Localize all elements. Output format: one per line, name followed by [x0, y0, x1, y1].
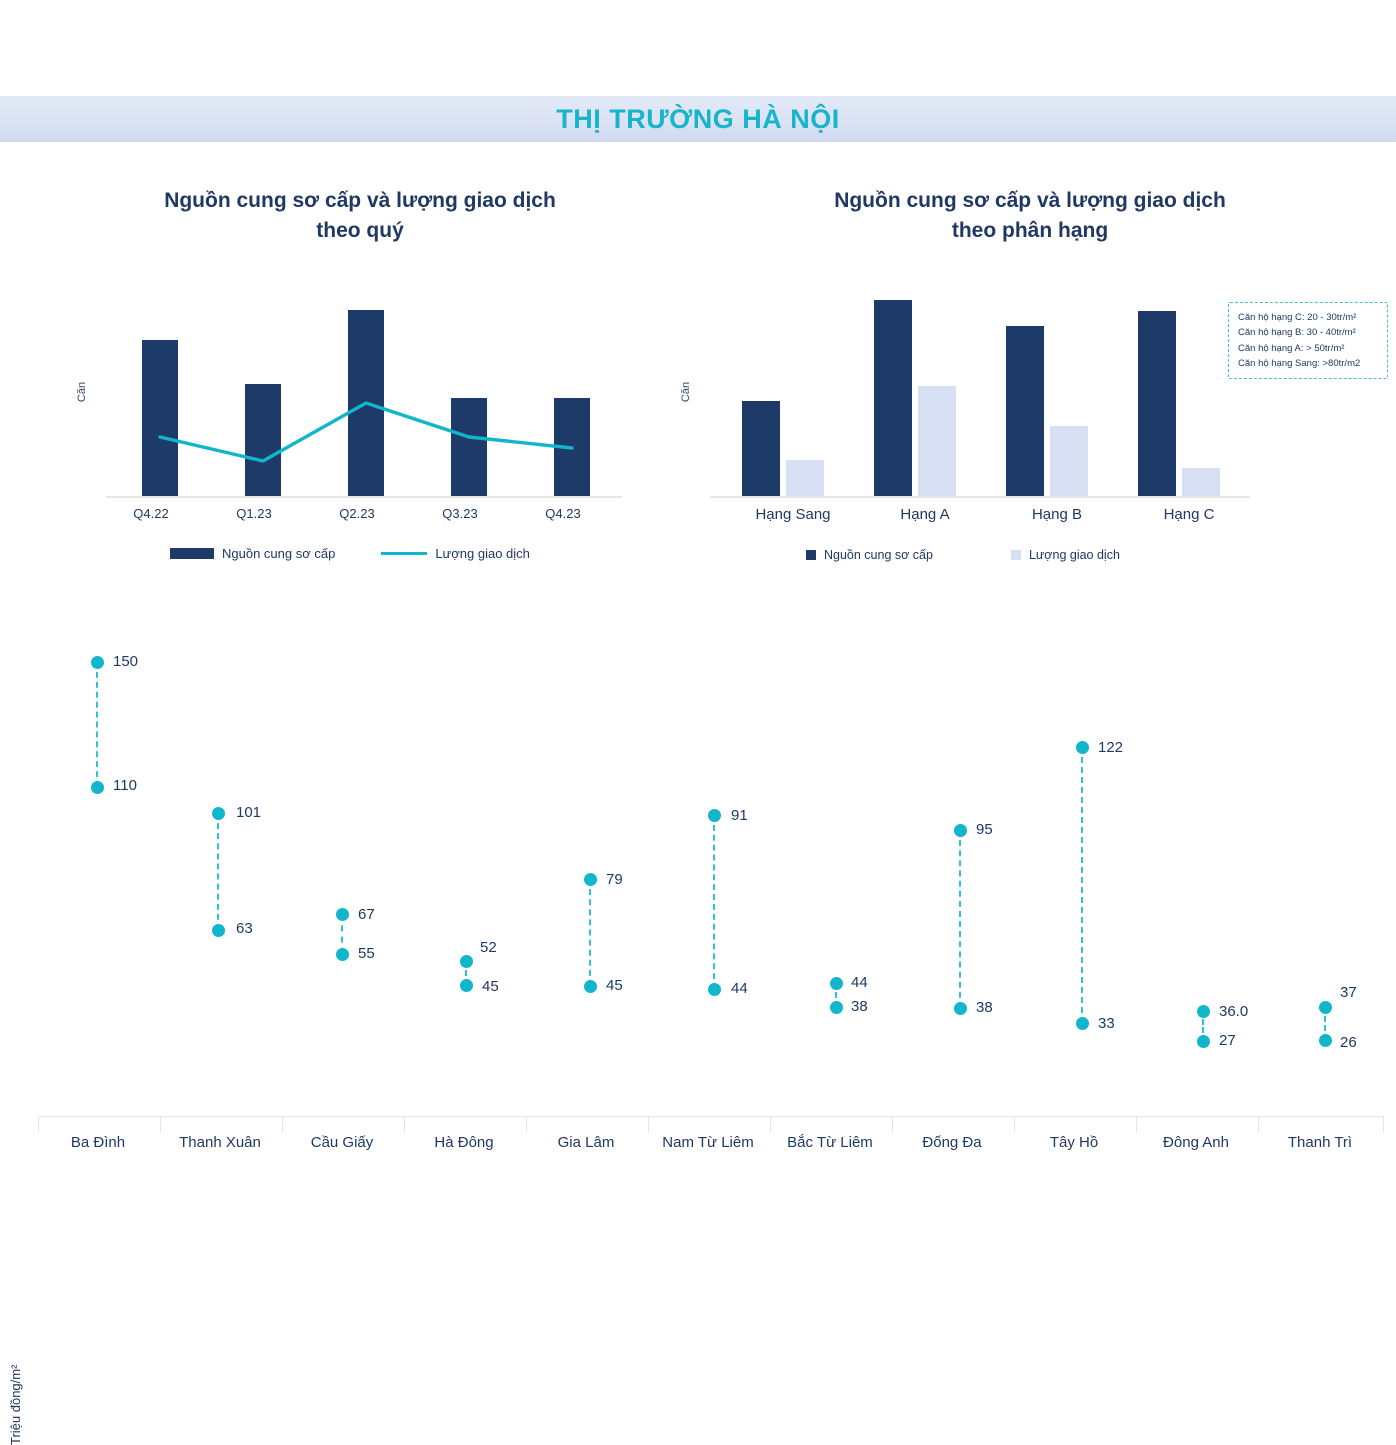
- district-label-nam-tu-liem: Nam Từ Liêm: [646, 1134, 770, 1151]
- district-axis-tick-0: [38, 1116, 39, 1132]
- page-title: THỊ TRƯỜNG HÀ NỘI: [556, 104, 839, 135]
- dot-low-dong-anh: [1197, 1035, 1210, 1048]
- legend-swatch-bar-icon: [170, 548, 214, 559]
- value-high-thanh-tri: 37: [1340, 984, 1357, 1001]
- district-axis-tick-10: [1258, 1116, 1259, 1132]
- x-tick-hang-b: Hạng B: [992, 506, 1122, 523]
- district-label-bac-tu-liem: Bắc Từ Liêm: [768, 1134, 892, 1151]
- dot-low-tay-ho: [1076, 1017, 1089, 1030]
- district-label-thanh-xuan: Thanh Xuân: [158, 1134, 282, 1151]
- legend-item-supply: Nguồn cung sơ cấp: [170, 546, 335, 561]
- chart-panel-grade: Nguồn cung sơ cấp và lượng giao dịch the…: [720, 186, 1340, 586]
- x-axis-line-grade: [710, 496, 1250, 498]
- district-label-thanh-tri: Thanh Trì: [1258, 1134, 1382, 1151]
- value-high-bac-tu-liem: 44: [851, 974, 868, 991]
- bar-supply-hang-sang: [742, 401, 780, 496]
- district-axis-tick-6: [770, 1116, 771, 1132]
- district-axis-tick-3: [404, 1116, 405, 1132]
- note-line-b: Căn hộ hạng B: 30 - 40tr/m²: [1238, 325, 1378, 340]
- legend-label-supply: Nguồn cung sơ cấp: [222, 546, 335, 561]
- district-label-ha-dong: Hà Đông: [402, 1134, 526, 1151]
- dot-high-tay-ho: [1076, 741, 1089, 754]
- value-low-bac-tu-liem: 38: [851, 998, 868, 1015]
- plot-area-quarter: [106, 286, 622, 498]
- legend-quarter: Nguồn cung sơ cấp Lượng giao dịch: [170, 546, 530, 561]
- x-tick-hang-sang: Hạng Sang: [728, 506, 858, 523]
- legend-label-transactions: Lượng giao dịch: [435, 546, 530, 561]
- dot-high-dong-anh: [1197, 1005, 1210, 1018]
- value-low-ba-dinh: 110: [113, 777, 137, 794]
- stem-gia-lam: [589, 879, 591, 986]
- bar-transactions-hang-a: [918, 386, 956, 496]
- bar-supply-hang-b: [1006, 326, 1044, 496]
- chart-title-quarter: Nguồn cung sơ cấp và lượng giao dịch the…: [60, 186, 660, 246]
- x-tick-hang-c: Hạng C: [1124, 506, 1254, 523]
- value-low-dong-da: 38: [976, 999, 993, 1016]
- y-axis-label-grade: Căn: [680, 362, 692, 422]
- value-low-thanh-xuan: 63: [236, 920, 253, 937]
- district-label-tay-ho: Tây Hồ: [1012, 1134, 1136, 1151]
- x-tick-q3-23: Q3.23: [415, 506, 505, 521]
- district-label-dong-anh: Đông Anh: [1134, 1134, 1258, 1151]
- dot-low-ha-dong: [460, 979, 473, 992]
- district-label-cau-giay: Cầu Giấy: [280, 1134, 404, 1151]
- dot-high-dong-da: [954, 824, 967, 837]
- legend-item-transactions-grade: Lượng giao dịch: [1011, 548, 1120, 562]
- dot-low-thanh-tri: [1319, 1034, 1332, 1047]
- stem-nam-tu-liem: [713, 815, 715, 989]
- district-axis-tick-4: [526, 1116, 527, 1132]
- dot-low-nam-tu-liem: [708, 983, 721, 996]
- x-tick-q4-23: Q4.23: [518, 506, 608, 521]
- value-high-nam-tu-liem: 91: [731, 807, 748, 824]
- value-high-ba-dinh: 150: [113, 653, 138, 670]
- district-axis-tick-8: [1014, 1116, 1015, 1132]
- bar-transactions-hang-c: [1182, 468, 1220, 496]
- dot-low-gia-lam: [584, 980, 597, 993]
- chart-title-grade: Nguồn cung sơ cấp và lượng giao dịch the…: [720, 186, 1340, 246]
- value-low-ha-dong: 45: [482, 978, 499, 995]
- district-axis-tick-9: [1136, 1116, 1137, 1132]
- x-tick-q4-22: Q4.22: [106, 506, 196, 521]
- district-axis-top-line: [38, 1116, 1383, 1117]
- value-high-dong-da: 95: [976, 821, 993, 838]
- dot-low-bac-tu-liem: [830, 1001, 843, 1014]
- district-axis-tick-5: [648, 1116, 649, 1132]
- note-line-c: Căn hộ hạng C: 20 - 30tr/m²: [1238, 310, 1378, 325]
- dot-high-nam-tu-liem: [708, 809, 721, 822]
- district-label-dong-da: Đống Đa: [890, 1134, 1014, 1151]
- legend-swatch-line-icon: [381, 552, 427, 555]
- value-low-nam-tu-liem: 44: [731, 980, 748, 997]
- dot-high-ba-dinh: [91, 656, 104, 669]
- dot-low-dong-da: [954, 1002, 967, 1015]
- dot-high-thanh-xuan: [212, 807, 225, 820]
- value-low-tay-ho: 33: [1098, 1015, 1115, 1032]
- dot-high-bac-tu-liem: [830, 977, 843, 990]
- stem-thanh-xuan: [217, 813, 219, 930]
- dot-low-cau-giay: [336, 948, 349, 961]
- note-line-sang: Căn hộ hạng Sang: >80tr/m2: [1238, 356, 1378, 371]
- bar-transactions-hang-b: [1050, 426, 1088, 496]
- x-tick-q2-23: Q2.23: [312, 506, 402, 521]
- slide-root: THỊ TRƯỜNG HÀ NỘI Nguồn cung sơ cấp và l…: [0, 0, 1396, 1186]
- grade-price-note-box: Căn hộ hạng C: 20 - 30tr/m² Căn hộ hạng …: [1228, 302, 1388, 379]
- y-axis-label-district: Triệu đồng/m²: [8, 1365, 23, 1445]
- value-high-tay-ho: 122: [1098, 739, 1123, 756]
- value-low-thanh-tri: 26: [1340, 1034, 1357, 1051]
- dot-high-cau-giay: [336, 908, 349, 921]
- chart-panel-district-prices: Triệu đồng/m² 150 110 101 63 67 55 52 45…: [0, 600, 1396, 1186]
- value-high-dong-anh: 36.0: [1219, 1003, 1248, 1020]
- district-label-ba-dinh: Ba Đình: [36, 1134, 160, 1151]
- legend-item-supply-grade: Nguồn cung sơ cấp: [806, 548, 933, 562]
- legend-swatch-square-light-icon: [1011, 550, 1021, 560]
- x-tick-hang-a: Hạng A: [860, 506, 990, 523]
- plot-area-grade: [710, 286, 1250, 498]
- district-axis-tick-7: [892, 1116, 893, 1132]
- legend-item-transactions: Lượng giao dịch: [381, 546, 530, 561]
- dot-low-ba-dinh: [91, 781, 104, 794]
- value-high-gia-lam: 79: [606, 871, 623, 888]
- district-axis-tick-2: [282, 1116, 283, 1132]
- legend-label-supply-grade: Nguồn cung sơ cấp: [824, 548, 933, 562]
- dot-low-thanh-xuan: [212, 924, 225, 937]
- bar-transactions-hang-sang: [786, 460, 824, 496]
- district-axis-tick-1: [160, 1116, 161, 1132]
- bar-supply-hang-c: [1138, 311, 1176, 496]
- y-axis-label-quarter: Căn: [76, 362, 88, 422]
- value-high-thanh-xuan: 101: [236, 804, 261, 821]
- district-label-gia-lam: Gia Lâm: [524, 1134, 648, 1151]
- header-band: THỊ TRƯỜNG HÀ NỘI: [0, 96, 1396, 142]
- district-axis-tick-11: [1383, 1116, 1384, 1132]
- chart-panel-quarter: Nguồn cung sơ cấp và lượng giao dịch the…: [60, 186, 660, 576]
- value-high-cau-giay: 67: [358, 906, 375, 923]
- value-low-cau-giay: 55: [358, 945, 375, 962]
- value-high-ha-dong: 52: [480, 939, 497, 956]
- transactions-line: [106, 286, 622, 498]
- legend-grade: Nguồn cung sơ cấp Lượng giao dịch: [806, 548, 1120, 562]
- dot-high-gia-lam: [584, 873, 597, 886]
- dot-high-ha-dong: [460, 955, 473, 968]
- x-tick-q1-23: Q1.23: [209, 506, 299, 521]
- stem-dong-da: [959, 830, 961, 1008]
- legend-swatch-square-icon: [806, 550, 816, 560]
- stem-ba-dinh: [96, 662, 98, 787]
- bar-supply-hang-a: [874, 300, 912, 496]
- note-line-a: Căn hộ hạng A: > 50tr/m²: [1238, 341, 1378, 356]
- dot-high-thanh-tri: [1319, 1001, 1332, 1014]
- stem-tay-ho: [1081, 747, 1083, 1023]
- value-low-dong-anh: 27: [1219, 1032, 1236, 1049]
- legend-label-transactions-grade: Lượng giao dịch: [1029, 548, 1120, 562]
- value-low-gia-lam: 45: [606, 977, 623, 994]
